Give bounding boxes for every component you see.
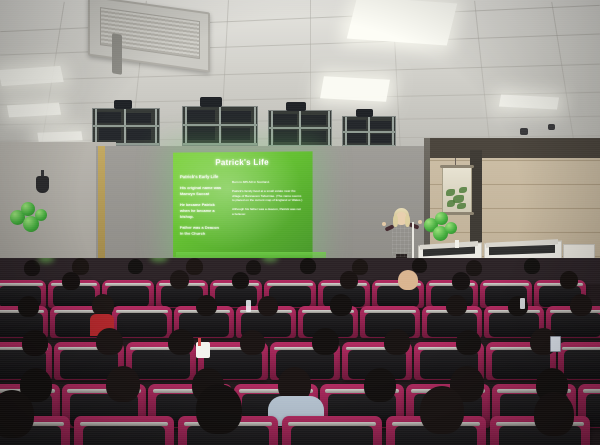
audience-head	[170, 270, 189, 289]
audience-head	[446, 295, 467, 316]
presenter-left-hand	[382, 222, 386, 226]
audience-head	[168, 329, 194, 355]
audience-head	[18, 296, 39, 317]
wall-sconce	[36, 176, 49, 193]
water-bottle	[246, 300, 251, 312]
projector-body	[114, 100, 132, 109]
right-wall-soffit	[430, 138, 600, 158]
audience-head	[456, 330, 481, 355]
audience-head	[340, 271, 358, 289]
audience-head	[92, 294, 114, 316]
slide-bullet: Father was a Deacon in the Church	[180, 225, 223, 237]
ceiling	[0, 0, 600, 152]
slide-paragraph: Although his father was a deacon, Patric…	[232, 207, 302, 217]
audience-head	[534, 392, 574, 436]
audience-head	[62, 272, 80, 290]
projector-body	[286, 102, 306, 111]
audience-head	[96, 328, 123, 355]
presenter-right-hand	[418, 220, 422, 224]
slide-surface: Patrick's Life Patrick's Early Life His …	[173, 151, 312, 258]
ceiling-light-panel	[347, 0, 457, 45]
projection-screen: Patrick's Life Patrick's Early Life His …	[173, 151, 312, 258]
audience-head	[364, 368, 396, 402]
audience-seating	[0, 258, 600, 445]
presenter-hair-right	[405, 215, 410, 227]
slide-left-column: Patrick's Early Life His original name w…	[180, 174, 223, 242]
audience-head	[420, 386, 464, 434]
mobile-phone	[550, 336, 561, 352]
audience-head	[240, 330, 265, 355]
slide-bullet: His original name was Maewyn Succat	[180, 185, 223, 197]
presenter-torso	[392, 224, 411, 257]
slide-bullet: He became Patrick when he became a bisho…	[180, 202, 223, 220]
wall-trim-strip	[98, 146, 105, 272]
projector-rack	[92, 108, 160, 146]
ceiling-light-panel	[320, 76, 390, 101]
balloon-cluster-right	[424, 212, 458, 246]
hanging-scroll-decoration	[442, 166, 472, 214]
table-item-cup	[455, 240, 459, 248]
projector-rack	[268, 110, 332, 148]
projector-body	[356, 109, 373, 117]
audience-row-1	[0, 410, 600, 445]
ceiling-speaker	[548, 124, 555, 130]
lecture-hall-photo: Patrick's Life Patrick's Early Life His …	[0, 0, 600, 445]
audience-head	[106, 366, 140, 402]
slide-paragraph: Born in 385 AD in Scotland.	[232, 180, 302, 185]
balloon-cluster-left	[10, 200, 50, 234]
ceiling-light-panel	[37, 131, 82, 142]
straw	[198, 338, 201, 346]
audience-head	[412, 258, 427, 273]
audience-head	[232, 272, 249, 289]
seat	[74, 416, 174, 445]
audience-head	[196, 384, 242, 434]
slide-paragraph: Patrick's family lived at a small estate…	[232, 189, 302, 204]
ceiling-speaker	[520, 128, 528, 135]
projector-rack	[182, 106, 258, 146]
water-bottle	[520, 298, 525, 309]
presenter-hair-left	[393, 215, 398, 227]
slide-right-column: Born in 385 AD in Scotland. Patrick's fa…	[232, 180, 302, 221]
audience-head	[196, 295, 217, 316]
projector-rack	[342, 116, 396, 148]
audience-head	[384, 329, 410, 355]
audience-head	[570, 294, 592, 316]
audience-head	[258, 296, 278, 316]
audience-head	[330, 294, 352, 316]
slide-left-heading: Patrick's Early Life	[180, 174, 223, 181]
audience-head	[22, 330, 48, 356]
slide-title: Patrick's Life	[173, 157, 312, 167]
audience-head	[508, 296, 528, 316]
ac-vent	[112, 33, 122, 75]
audience-head	[452, 272, 470, 290]
seat	[282, 416, 382, 445]
audience-head	[312, 328, 339, 355]
audience-head	[560, 271, 578, 289]
audience-head	[398, 270, 418, 290]
projector-body	[200, 97, 222, 107]
